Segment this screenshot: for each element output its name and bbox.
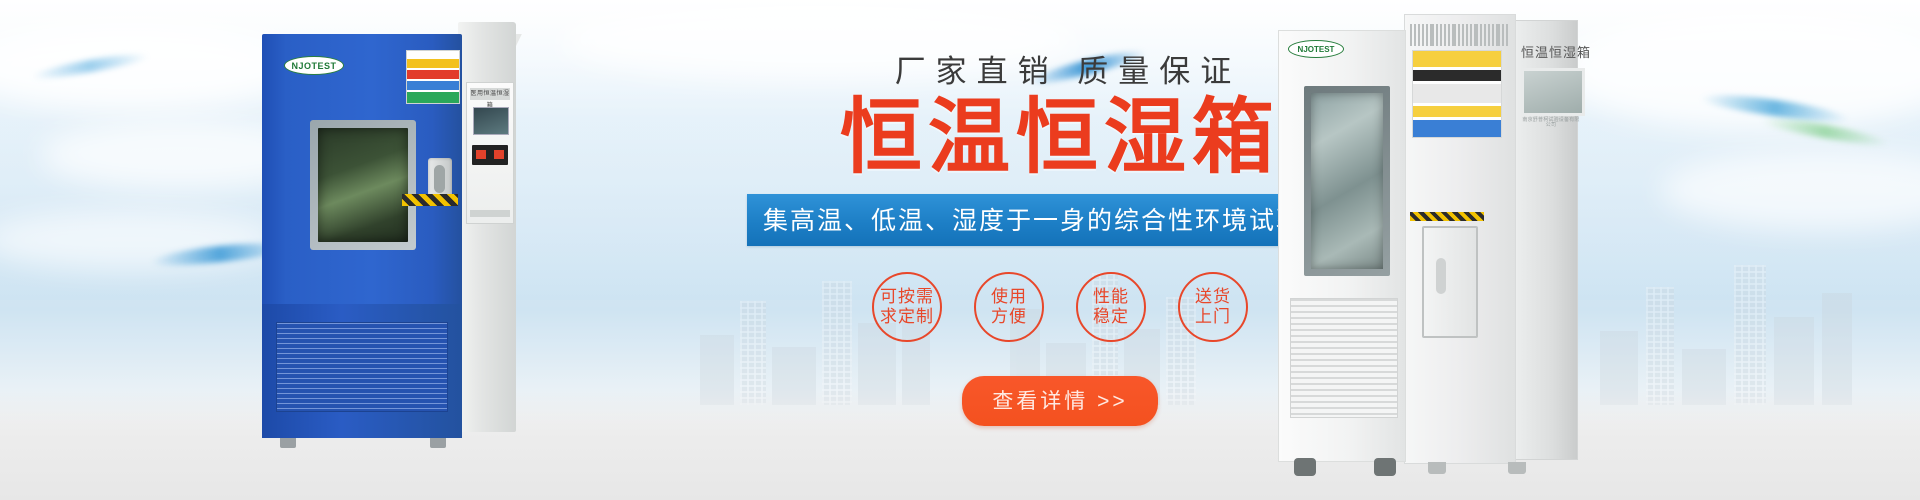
product-name-label-right: 恒温恒湿箱 [1521,42,1577,58]
control-screen-right [1521,68,1585,116]
chamber-caster-right-1 [1294,458,1316,476]
company-text-right: 南京舒普柯试验设备有限公司 [1521,118,1581,128]
chamber-vent-grille-right [1290,298,1398,418]
chamber-vent-grille-left [276,322,448,412]
cloud-wisp-4 [1560,10,1920,130]
viewport-glass-left [318,128,408,242]
chamber-foot-right-2 [1508,462,1526,474]
product-image-right: NJOTEST 恒温恒湿箱 南京舒普柯试验设备有限公司 [1278,6,1578,476]
product-image-left: NJOTEST 医用恒温恒湿箱 [262,22,514,442]
chamber-foot-left-1 [280,438,296,448]
control-panel-title-left: 医用恒温恒湿箱 [470,88,510,100]
control-panel-footer-left [470,210,510,217]
badge-line-2: 上门 [1195,307,1231,328]
hazard-stripe-left [402,194,458,206]
feature-badge-custom[interactable]: 可按需 求定制 [872,272,942,342]
chamber-viewport-left [310,120,416,250]
control-panel-lcd-left [473,107,509,135]
chamber-viewport-right [1304,86,1390,276]
city-skyline-right [1600,245,1900,405]
chamber-vent-strip-right [1410,24,1510,46]
access-door-right [1422,226,1478,338]
chamber-foot-left-2 [430,438,446,448]
feature-badge-delivery[interactable]: 送货 上门 [1178,272,1248,342]
blue-brush-topleft [30,50,150,83]
chamber-caster-right-2 [1374,458,1396,476]
chamber-foot-right-1 [1428,462,1446,474]
cloud-wisp-1 [0,20,300,110]
cloud-wisp-5 [1660,150,1920,230]
hazard-stripe-right [1410,212,1484,221]
green-brush-right [1760,114,1890,149]
badge-line-1: 性能 [1093,287,1129,308]
badge-line-2: 方便 [991,307,1027,328]
badge-line-1: 送货 [1195,287,1231,308]
brand-logo-left: NJOTEST [284,56,344,75]
brand-logo-right: NJOTEST [1288,40,1344,58]
promo-banner: NJOTEST 医用恒温恒湿箱 厂家直销 质量保证 恒温恒湿箱 集高温、低温、湿… [0,0,1920,500]
view-details-button[interactable]: 查看详情 >> [962,376,1157,426]
viewport-glass-right [1311,93,1383,269]
badge-line-2: 求定制 [880,307,934,328]
badge-line-2: 稳定 [1093,307,1129,328]
feature-badge-easy-use[interactable]: 使用 方便 [974,272,1044,342]
control-panel-indicators-left [472,145,508,165]
warning-label-sticker-right [1412,50,1502,138]
cloud-wisp-3 [0,210,280,270]
warning-label-sticker-left [406,50,460,104]
blue-brush-right [1700,90,1851,127]
feature-badge-stable[interactable]: 性能 稳定 [1076,272,1146,342]
badge-line-1: 可按需 [880,287,934,308]
badge-line-1: 使用 [991,287,1027,308]
control-panel-left: 医用恒温恒湿箱 [466,82,514,224]
